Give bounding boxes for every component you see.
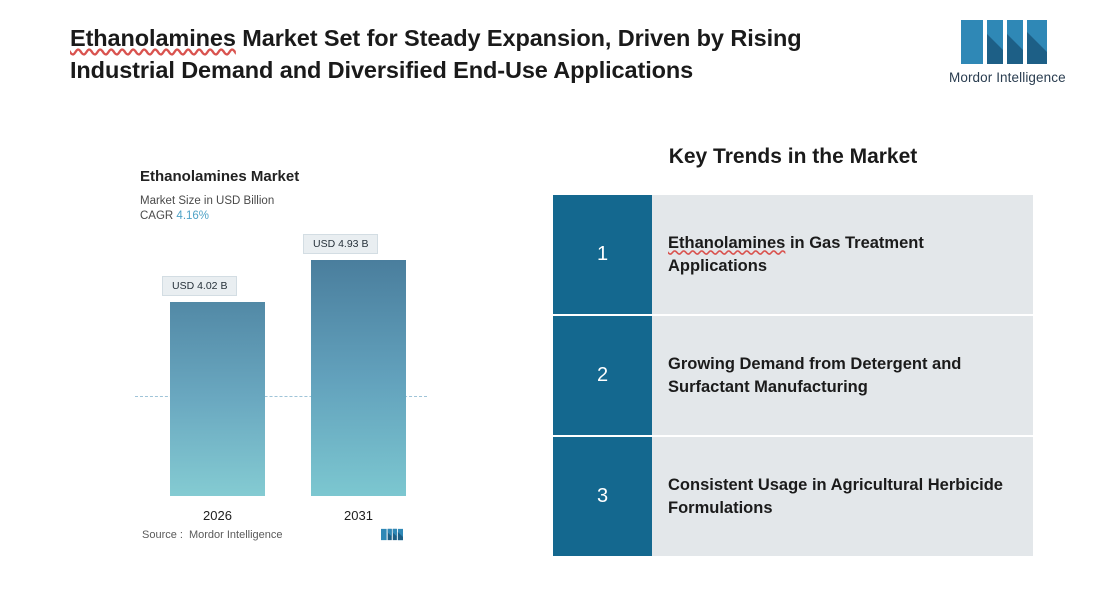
page-header: Ethanolamines Market Set for Steady Expa… <box>70 22 900 86</box>
chart-source: Source : Mordor Intelligence <box>142 528 403 541</box>
cagr-value: 4.16% <box>176 210 209 222</box>
brand-logo-text: Mordor Intelligence <box>949 70 1059 85</box>
page-title: Ethanolamines Market Set for Steady Expa… <box>70 22 900 86</box>
trend-text-1: Ethanolamines in Gas Treatment Applicati… <box>652 195 1033 315</box>
chart-subtitle: Market Size in USD Billion <box>140 195 490 207</box>
mordor-logo-small-icon <box>381 528 403 541</box>
table-row: 2 Growing Demand from Detergent and Surf… <box>553 315 1033 436</box>
page-title-keyword: Ethanolamines <box>70 25 236 51</box>
bar-value-label-2031: USD 4.93 B <box>303 234 378 254</box>
trend-number-2: 2 <box>553 315 652 436</box>
cagr-label: CAGR <box>140 210 176 222</box>
x-axis-tick-2026: 2026 <box>170 508 265 523</box>
trend-text-2: Growing Demand from Detergent and Surfac… <box>652 315 1033 436</box>
table-row: 3 Consistent Usage in Agricultural Herbi… <box>553 436 1033 557</box>
brand-logo: Mordor Intelligence <box>949 20 1059 85</box>
key-trends-table: 1 Ethanolamines in Gas Treatment Applica… <box>553 195 1033 558</box>
mordor-logo-icon <box>961 20 1047 64</box>
bar-2031 <box>311 260 406 496</box>
bar-chart-plot: USD 4.02 B USD 4.93 B 2026 2031 <box>140 246 470 496</box>
trend-number-3: 3 <box>553 436 652 557</box>
table-row: 1 Ethanolamines in Gas Treatment Applica… <box>553 195 1033 315</box>
chart-cagr: CAGR 4.16% <box>140 210 490 222</box>
trend-number-1: 1 <box>553 195 652 315</box>
chart-panel: Ethanolamines Market Market Size in USD … <box>140 168 490 558</box>
key-trends-title: Key Trends in the Market <box>553 145 1033 169</box>
trend-text-3: Consistent Usage in Agricultural Herbici… <box>652 436 1033 557</box>
source-label: Source : <box>142 529 183 541</box>
chart-title: Ethanolamines Market <box>140 168 490 185</box>
bar-value-label-2026: USD 4.02 B <box>162 276 237 296</box>
trend-text-1-keyword: Ethanolamines <box>668 234 785 252</box>
bar-2026 <box>170 302 265 496</box>
key-trends-panel: Key Trends in the Market 1 Ethanolamines… <box>553 145 1033 558</box>
source-name: Mordor Intelligence <box>189 529 283 541</box>
x-axis-tick-2031: 2031 <box>311 508 406 523</box>
